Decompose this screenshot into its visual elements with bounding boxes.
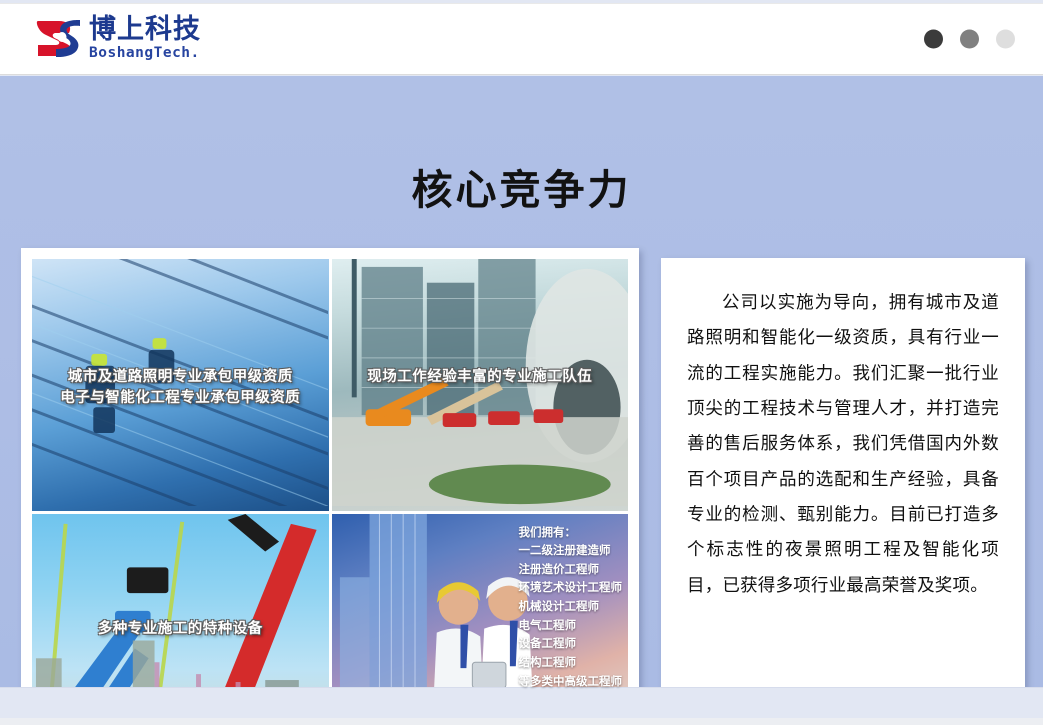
tile-qualifications[interactable]: 城市及道路照明专业承包甲级资质 电子与智能化工程专业承包甲级资质	[32, 259, 329, 511]
gallery-grid: 城市及道路照明专业承包甲级资质 电子与智能化工程专业承包甲级资质	[32, 259, 628, 725]
brand-logo-text: 博上科技 BoshangTech.	[89, 16, 201, 61]
tile-caption: 城市及道路照明专业承包甲级资质 电子与智能化工程专业承包甲级资质	[32, 367, 329, 408]
credential-heading: 我们拥有：	[519, 523, 623, 542]
brand-name-en: BoshangTech.	[89, 46, 201, 61]
bottom-band	[0, 687, 1043, 725]
pagination-dots[interactable]	[924, 30, 1015, 49]
tile-caption: 现场工作经验丰富的专业施工队伍	[332, 367, 629, 388]
tile-construction-team[interactable]: 现场工作经验丰富的专业施工队伍	[332, 259, 629, 511]
bottom-edge	[0, 718, 1043, 725]
credential-item: 结构工程师	[519, 653, 623, 672]
brand-logo[interactable]: 博上科技 BoshangTech.	[36, 16, 201, 61]
caption-line-1: 现场工作经验丰富的专业施工队伍	[332, 367, 629, 388]
credential-item: 电气工程师	[519, 616, 623, 635]
credential-item: 等多类中高级工程师	[519, 672, 623, 691]
description-card: 公司以实施为导向，拥有城市及道路照明和智能化一级资质，具有行业一流的工程实施能力…	[661, 258, 1025, 725]
dot-active-icon[interactable]	[924, 30, 943, 49]
dot-second-icon[interactable]	[960, 30, 979, 49]
credential-item: 环境艺术设计工程师	[519, 578, 623, 597]
tile-caption: 多种专业施工的特种设备	[32, 619, 329, 640]
credential-item: 设备工程师	[519, 634, 623, 653]
credential-list: 我们拥有： 一二级注册建造师 注册造价工程师 环境艺术设计工程师 机械设计工程师…	[519, 523, 623, 691]
credential-item: 注册造价工程师	[519, 560, 623, 579]
header-bar: 博上科技 BoshangTech.	[0, 3, 1043, 75]
caption-line-1: 多种专业施工的特种设备	[32, 619, 329, 640]
description-paragraph: 公司以实施为导向，拥有城市及道路照明和智能化一级资质，具有行业一流的工程实施能力…	[687, 286, 999, 604]
page-title: 核心竞争力	[0, 170, 1043, 211]
caption-line-2: 电子与智能化工程专业承包甲级资质	[32, 388, 329, 409]
caption-line-1: 城市及道路照明专业承包甲级资质	[32, 367, 329, 388]
slide-stage: 核心竞争力	[0, 76, 1043, 687]
dot-third-icon[interactable]	[996, 30, 1015, 49]
boshang-logo-mark	[36, 16, 82, 60]
gallery-card: 城市及道路照明专业承包甲级资质 电子与智能化工程专业承包甲级资质	[21, 248, 639, 725]
credential-item: 一二级注册建造师	[519, 541, 623, 560]
brand-name-cn: 博上科技	[89, 16, 201, 43]
credential-item: 机械设计工程师	[519, 597, 623, 616]
slide-viewport: 博上科技 BoshangTech. 核心竞争力	[0, 0, 1043, 725]
